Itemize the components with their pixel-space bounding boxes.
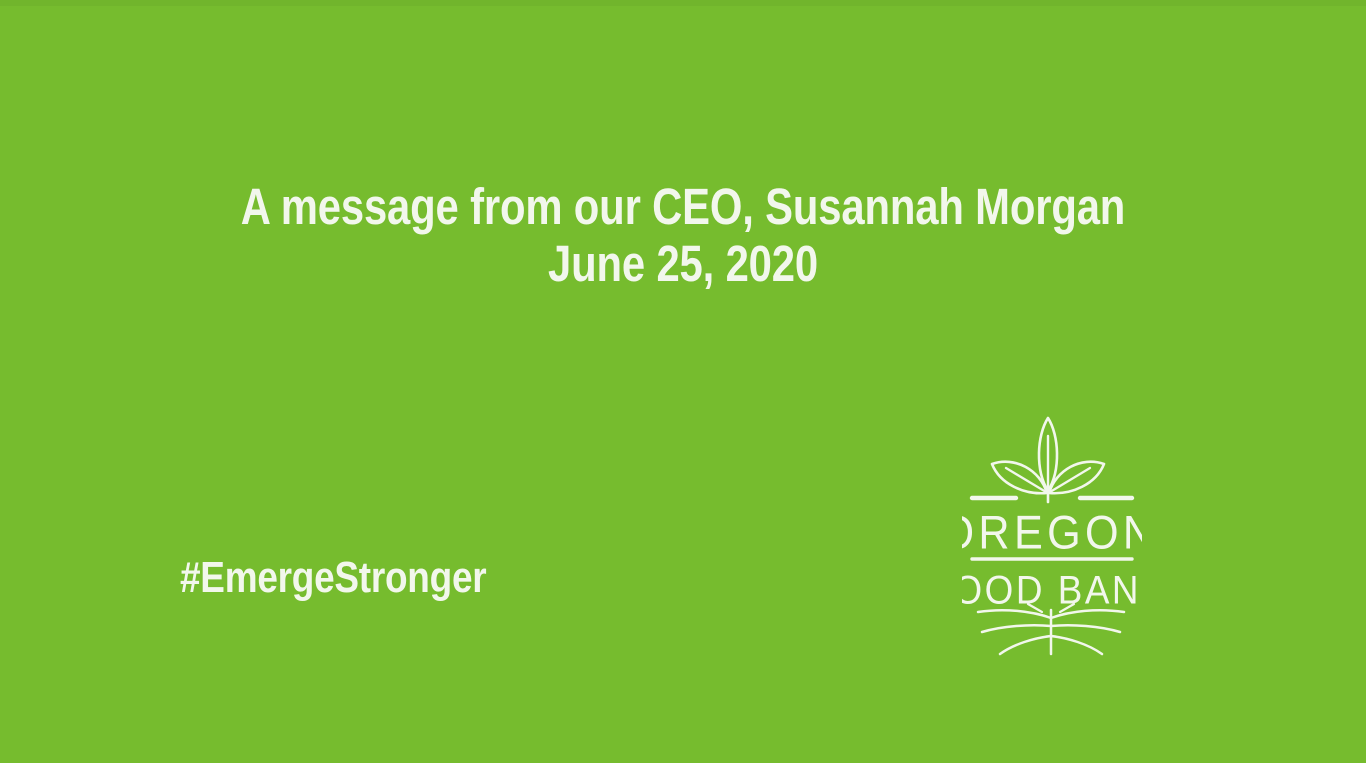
oregon-food-bank-logo: OREGON FOOD BANK: [962, 398, 1142, 656]
headline-title-line: A message from our CEO, Susannah Morgan: [123, 178, 1243, 235]
logo-wordmark-oregon: OREGON: [962, 505, 1142, 558]
presentation-slide: A message from our CEO, Susannah Morgan …: [0, 0, 1366, 763]
top-edge-band: [0, 0, 1366, 6]
campaign-hashtag: #EmergeStronger: [180, 553, 486, 603]
headline-date-line: June 25, 2020: [123, 235, 1243, 292]
logo-artwork: OREGON FOOD BANK: [962, 398, 1142, 656]
logo-wordmark-food-bank: FOOD BANK: [962, 568, 1142, 613]
plant-icon: [992, 418, 1104, 502]
page-title: A message from our CEO, Susannah Morgan …: [123, 178, 1243, 292]
